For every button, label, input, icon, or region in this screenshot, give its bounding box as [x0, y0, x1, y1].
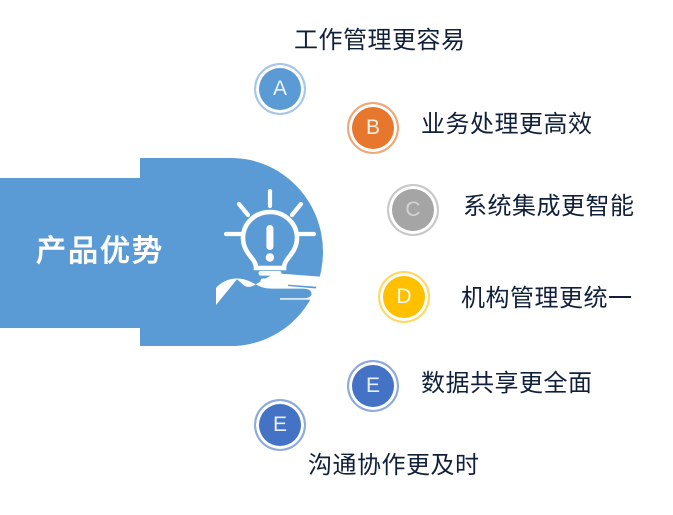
advantage-badge-3[interactable]: C	[387, 184, 439, 236]
advantage-badge-letter: C	[405, 199, 420, 220]
advantage-badge-letter: E	[273, 414, 287, 435]
advantage-badge-letter: E	[366, 375, 380, 396]
product-advantages-banner: 产品优势	[0, 158, 323, 346]
lightbulb-on-hand-icon	[210, 185, 330, 315]
advantage-badge-1[interactable]: A	[254, 63, 306, 115]
advantage-label-6: 沟通协作更及时	[308, 451, 480, 481]
advantage-label-2: 业务处理更高效	[421, 110, 593, 140]
advantage-badge-2[interactable]: B	[347, 102, 399, 154]
advantage-label-5: 数据共享更全面	[421, 369, 593, 399]
advantage-badge-6[interactable]: E	[254, 399, 306, 451]
product-advantages-diagram: 产品优势 A工作管理更容易B业务处理更高效C系统集成更智能D机构管理更统一E数	[0, 0, 673, 515]
advantage-badge-4[interactable]: D	[378, 271, 430, 323]
advantage-badge-letter: B	[366, 117, 380, 138]
advantage-label-1: 工作管理更容易	[294, 26, 466, 56]
banner-title: 产品优势	[0, 232, 200, 272]
advantage-badge-letter: D	[396, 286, 411, 307]
advantage-badge-5[interactable]: E	[347, 360, 399, 412]
advantage-badge-letter: A	[273, 78, 287, 99]
advantage-label-3: 系统集成更智能	[463, 192, 635, 222]
advantage-label-4: 机构管理更统一	[461, 284, 633, 314]
